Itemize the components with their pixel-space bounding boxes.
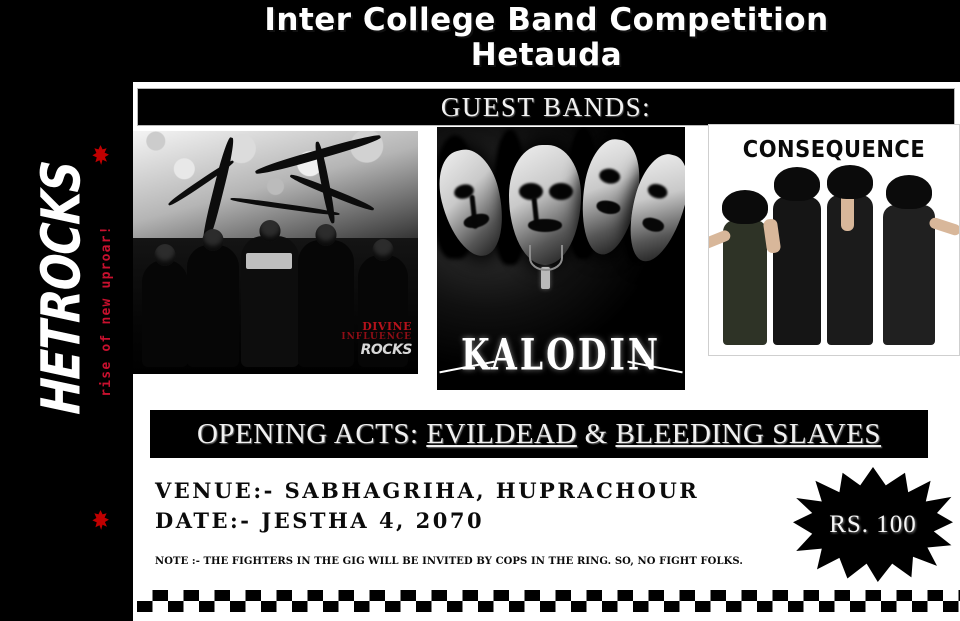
band-member-figure (723, 220, 767, 345)
hetrocks-logo-text: HETROCKS (31, 160, 94, 416)
hetrocks-tagline: rise of new uproar! (95, 211, 117, 411)
opening-acts-bar: OPENING ACTS: EVILDEAD & BLEEDING SLAVES (150, 410, 928, 458)
necklace-pendant (541, 267, 550, 289)
guest-bands-header: GUEST BANDS: (137, 88, 955, 126)
band-photo-kalodin: KALODIN (437, 127, 685, 390)
divine-influence-logo: DIVINE INFLUENCE ROCKS (341, 321, 412, 358)
blood-splatter-icon-top (92, 145, 109, 165)
eye-shape (598, 167, 621, 185)
hetrocks-logo: HETROCKS (31, 138, 93, 438)
title-line-2: Hetauda (471, 38, 622, 73)
eye-shape (549, 183, 573, 200)
guest-bands-header-text: GUEST BANDS: (441, 92, 651, 123)
opening-act-evildead: EVILDEAD (426, 418, 577, 450)
band-member-figure (773, 197, 821, 345)
blood-splatter-icon-bottom (92, 510, 109, 530)
title-line-1: Inter College Band Competition (264, 3, 828, 38)
band-member-figure (827, 195, 873, 345)
band-photo-consequence: CONSEQUENCE (708, 124, 960, 356)
consequence-logo-text: CONSEQUENCE (709, 136, 959, 163)
arm-shape (708, 229, 732, 250)
band-member-silhouette (142, 260, 188, 367)
kalodin-logo-text: KALODIN (437, 329, 685, 380)
concert-poster: HETROCKS rise of new uproar! Inter Colle… (0, 0, 960, 621)
arm-shape (841, 191, 854, 231)
opening-act-bleeding-slaves: BLEEDING SLAVES (615, 418, 881, 450)
tshirt-print (246, 253, 292, 269)
hetrocks-tagline-text: rise of new uproar! (99, 225, 114, 397)
event-details: VENUE:- SABHAGRIHA, HUPRACHOUR DATE:- JE… (155, 476, 855, 567)
opening-acts-separator: & (577, 418, 616, 450)
arm-shape (928, 216, 960, 236)
divine-logo-line-2: INFLUENCE (341, 333, 412, 342)
poster-title: Inter College Band Competition Hetauda (133, 0, 960, 82)
divine-logo-line-3: ROCKS (341, 343, 412, 358)
price-label: RS. 100 (829, 511, 917, 539)
mouth-shape (641, 216, 666, 235)
band-photo-row: DIVINE INFLUENCE ROCKS (133, 127, 960, 377)
date-line: DATE:- JESTHA 4, 2070 (155, 506, 855, 536)
eye-shape (646, 182, 669, 201)
opening-acts-text: OPENING ACTS: EVILDEAD & BLEEDING SLAVES (197, 418, 881, 451)
band-photo-divine-influence: DIVINE INFLUENCE ROCKS (133, 131, 418, 374)
left-spine: HETROCKS rise of new uproar! (0, 0, 133, 621)
footer-white-strip (137, 612, 960, 621)
band-member-silhouette (187, 245, 239, 367)
opening-acts-prefix: OPENING ACTS: (197, 418, 426, 450)
venue-line: VENUE:- SABHAGRIHA, HUPRACHOUR (155, 476, 855, 506)
note-line: NOTE :- THE FIGHTERS IN THE GIG WILL BE … (155, 556, 855, 567)
band-member-figure (883, 205, 935, 345)
main-panel: GUEST BANDS: DIVINE (133, 82, 960, 621)
mouth-shape (595, 199, 621, 216)
